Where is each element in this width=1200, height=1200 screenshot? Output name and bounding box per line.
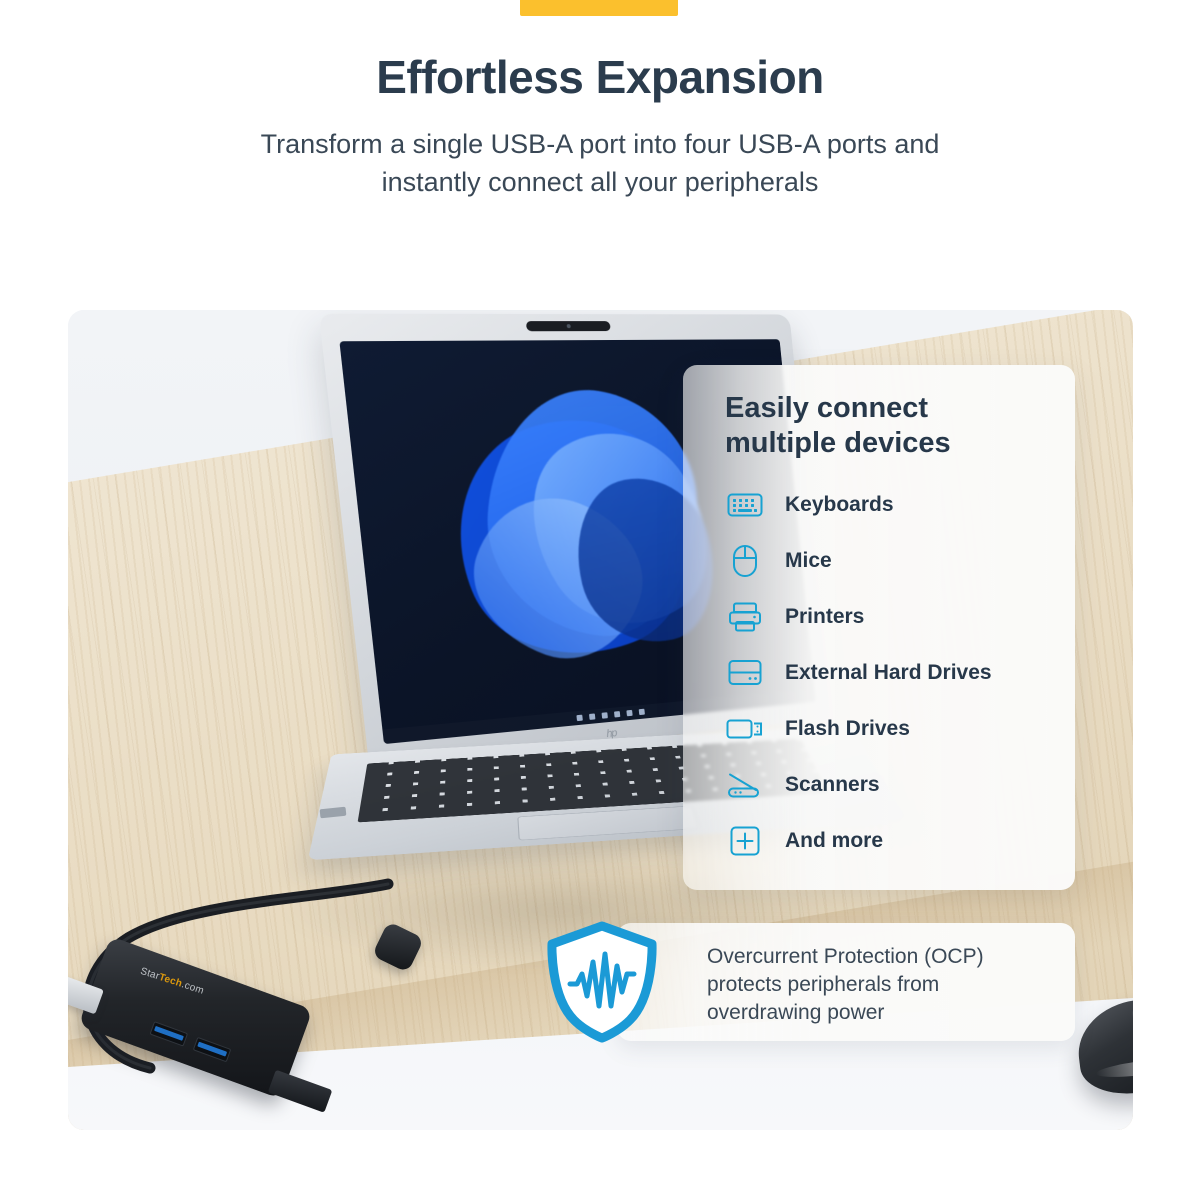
product-marketing-image: Effortless Expansion Transform a single …: [0, 0, 1200, 1200]
list-item-label: Printers: [785, 605, 864, 629]
list-item-mice: Mice: [723, 533, 1075, 589]
list-item-label: And more: [785, 829, 883, 853]
devices-card: Easily connect multiple devices: [683, 365, 1075, 890]
taskbar-start-icon: [576, 715, 582, 722]
taskbar-edge-icon: [626, 710, 632, 716]
list-item-and-more: And more: [723, 813, 1075, 869]
taskbar-search-icon: [589, 713, 595, 719]
subtitle-line-1: Transform a single USB-A port into four …: [150, 125, 1050, 163]
keyboard-icon: [723, 487, 767, 523]
list-item-label: External Hard Drives: [785, 661, 992, 685]
header: Effortless Expansion Transform a single …: [0, 52, 1200, 201]
list-item-external-hard-drives: External Hard Drives: [723, 645, 1075, 701]
subtitle-line-2: instantly connect all your peripherals: [150, 163, 1050, 201]
ocp-card: Overcurrent Protection (OCP) protects pe…: [617, 923, 1075, 1041]
taskbar-widgets-icon: [601, 712, 607, 718]
page-title: Effortless Expansion: [0, 52, 1200, 103]
list-item-label: Keyboards: [785, 493, 894, 517]
scanner-icon: [723, 767, 767, 803]
mouse-icon: [723, 543, 767, 579]
list-item-label: Scanners: [785, 773, 880, 797]
flash-drive-icon: [723, 711, 767, 747]
ocp-description: Overcurrent Protection (OCP) protects pe…: [707, 943, 1057, 1027]
list-item-flash-drives: Flash Drives: [723, 701, 1075, 757]
external-hard-drive-icon: [723, 655, 767, 691]
list-item-keyboards: Keyboards: [723, 477, 1075, 533]
shield-waveform-icon: [538, 918, 666, 1046]
ocp-line-2: protects peripherals from: [707, 971, 1057, 999]
devices-title-line-2: multiple devices: [725, 427, 951, 459]
ocp-line-1: Overcurrent Protection (OCP): [707, 943, 1057, 971]
laptop-trackpad: [518, 806, 701, 841]
ocp-line-3: overdrawing power: [707, 999, 1057, 1027]
list-item-label: Mice: [785, 549, 832, 573]
taskbar-explorer-icon: [614, 711, 620, 717]
devices-card-title: Easily connect multiple devices: [683, 365, 1075, 461]
devices-list: Keyboards Mice: [683, 477, 1075, 869]
printer-icon: [723, 599, 767, 635]
list-item-label: Flash Drives: [785, 717, 910, 741]
list-item-printers: Printers: [723, 589, 1075, 645]
list-item-scanners: Scanners: [723, 757, 1075, 813]
top-accent-bar: [520, 0, 678, 16]
webcam-icon: [526, 321, 611, 331]
plus-box-icon: [723, 823, 767, 859]
devices-title-line-1: Easily connect: [725, 392, 928, 424]
taskbar-store-icon: [638, 709, 644, 715]
page-subtitle: Transform a single USB-A port into four …: [150, 125, 1050, 202]
